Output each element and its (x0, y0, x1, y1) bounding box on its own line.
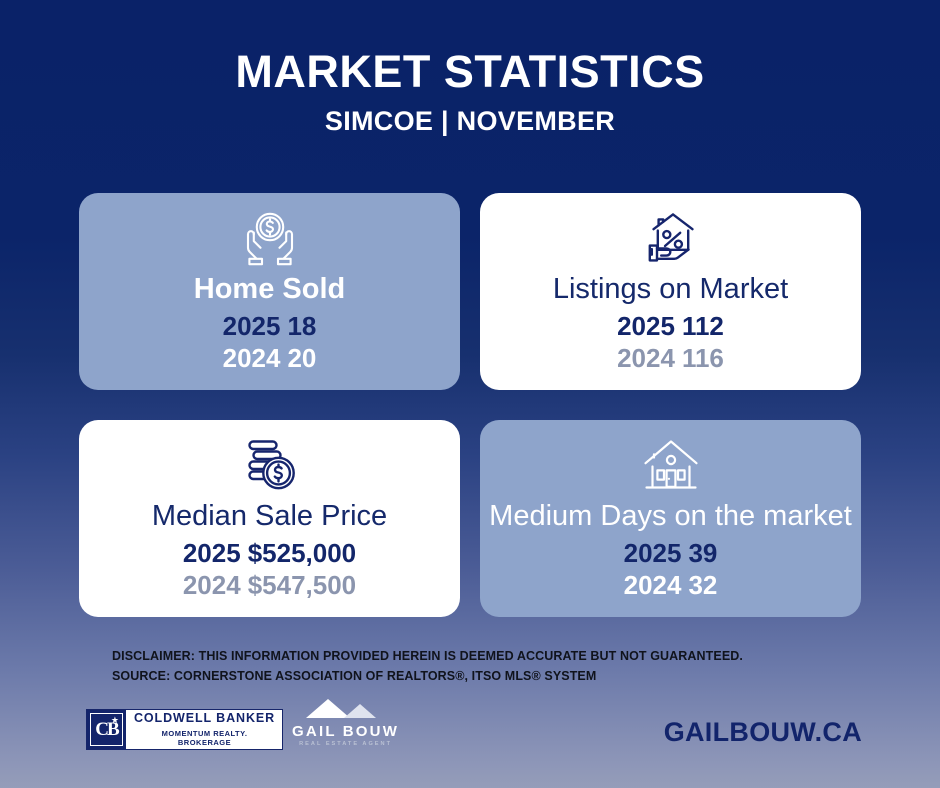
hand-holding-house-percent-icon (640, 206, 702, 272)
header: MARKET STATISTICS SIMCOE | NOVEMBER (0, 48, 940, 137)
stat-row-current: 2025$525,000 (183, 538, 356, 570)
agent-tagline: REAL ESTATE AGENT (299, 740, 392, 749)
coldwell-banker-wordmark: COLDWELL BANKER MOMENTUM REALTY. BROKERA… (126, 710, 282, 749)
stat-value: 32 (688, 570, 717, 600)
mountain-peaks-icon (298, 698, 394, 723)
monogram-frame: CB ★ (90, 713, 123, 746)
brokerage-brand-name: COLDWELL BANKER (134, 712, 275, 726)
page-title: MARKET STATISTICS (0, 48, 940, 95)
coldwell-banker-monogram-mark: CB ★ (87, 710, 126, 749)
agent-name: GAIL BOUW (292, 724, 399, 739)
stat-card-label: Medium Days on the market (489, 501, 852, 532)
stat-year: 2025 (183, 538, 241, 568)
stat-year: 2024 (183, 570, 241, 600)
gail-bouw-logo: GAIL BOUW REAL ESTATE AGENT (292, 709, 399, 750)
stat-card-values: 202518 202420 (223, 311, 317, 374)
stat-card-home-sold: Home Sold 202518 202420 (79, 193, 460, 390)
stat-value: 20 (287, 343, 316, 373)
disclaimer-line-1: DISCLAIMER: THIS INFORMATION PROVIDED HE… (112, 647, 892, 667)
stat-card-values: 202539 202432 (624, 538, 718, 601)
stat-value: 39 (688, 538, 717, 568)
stat-row-previous: 2024116 (617, 343, 724, 375)
stat-row-previous: 202420 (223, 343, 317, 375)
stat-row-current: 202518 (223, 311, 317, 343)
stat-card-label: Median Sale Price (152, 501, 387, 532)
disclaimer-line-2: SOURCE: CORNERSTONE ASSOCIATION OF REALT… (112, 667, 892, 687)
stat-year: 2025 (617, 311, 675, 341)
stat-row-current: 202539 (624, 538, 718, 570)
stat-year: 2024 (624, 570, 682, 600)
house-icon (640, 433, 702, 499)
hands-holding-coin-icon (239, 206, 301, 272)
stat-card-label: Home Sold (194, 274, 345, 305)
stat-card-medium-days-on-market: Medium Days on the market 202539 202432 (480, 420, 861, 617)
brokerage-sub-line-2: BROKERAGE (178, 738, 231, 747)
stat-year: 2025 (223, 311, 281, 341)
stat-value: 116 (682, 343, 724, 373)
brokerage-sub-line-1: MOMENTUM REALTY. (162, 729, 248, 738)
stats-card-grid: Home Sold 202518 202420 (79, 193, 861, 617)
page-subtitle: SIMCOE | NOVEMBER (0, 106, 940, 137)
footer: CB ★ COLDWELL BANKER MOMENTUM REALTY. BR… (0, 703, 940, 761)
disclaimer: DISCLAIMER: THIS INFORMATION PROVIDED HE… (112, 647, 892, 687)
stat-value: 112 (682, 311, 724, 341)
star-icon: ★ (111, 716, 119, 725)
coin-stack-icon (240, 433, 300, 499)
stat-year: 2024 (223, 343, 281, 373)
stat-card-values: 2025$525,000 2024$547,500 (183, 538, 356, 601)
stat-row-previous: 2024$547,500 (183, 570, 356, 602)
stat-card-listings-on-market: Listings on Market 2025112 2024116 (480, 193, 861, 390)
stat-card-values: 2025112 2024116 (617, 311, 724, 374)
market-statistics-poster: MARKET STATISTICS SIMCOE | NOVEMBER Home… (0, 0, 940, 788)
stat-row-previous: 202432 (624, 570, 718, 602)
stat-card-median-sale-price: Median Sale Price 2025$525,000 2024$547,… (79, 420, 460, 617)
website-url[interactable]: GAILBOUW.CA (664, 717, 862, 748)
stat-value: $547,500 (248, 570, 356, 600)
stat-card-label: Listings on Market (553, 274, 788, 305)
coldwell-banker-logo: CB ★ COLDWELL BANKER MOMENTUM REALTY. BR… (86, 709, 283, 750)
stat-row-current: 2025112 (617, 311, 724, 343)
brand-logos: CB ★ COLDWELL BANKER MOMENTUM REALTY. BR… (86, 709, 399, 750)
stat-year: 2025 (624, 538, 682, 568)
stat-value: 18 (287, 311, 316, 341)
stat-year: 2024 (617, 343, 675, 373)
stat-value: $525,000 (248, 538, 356, 568)
